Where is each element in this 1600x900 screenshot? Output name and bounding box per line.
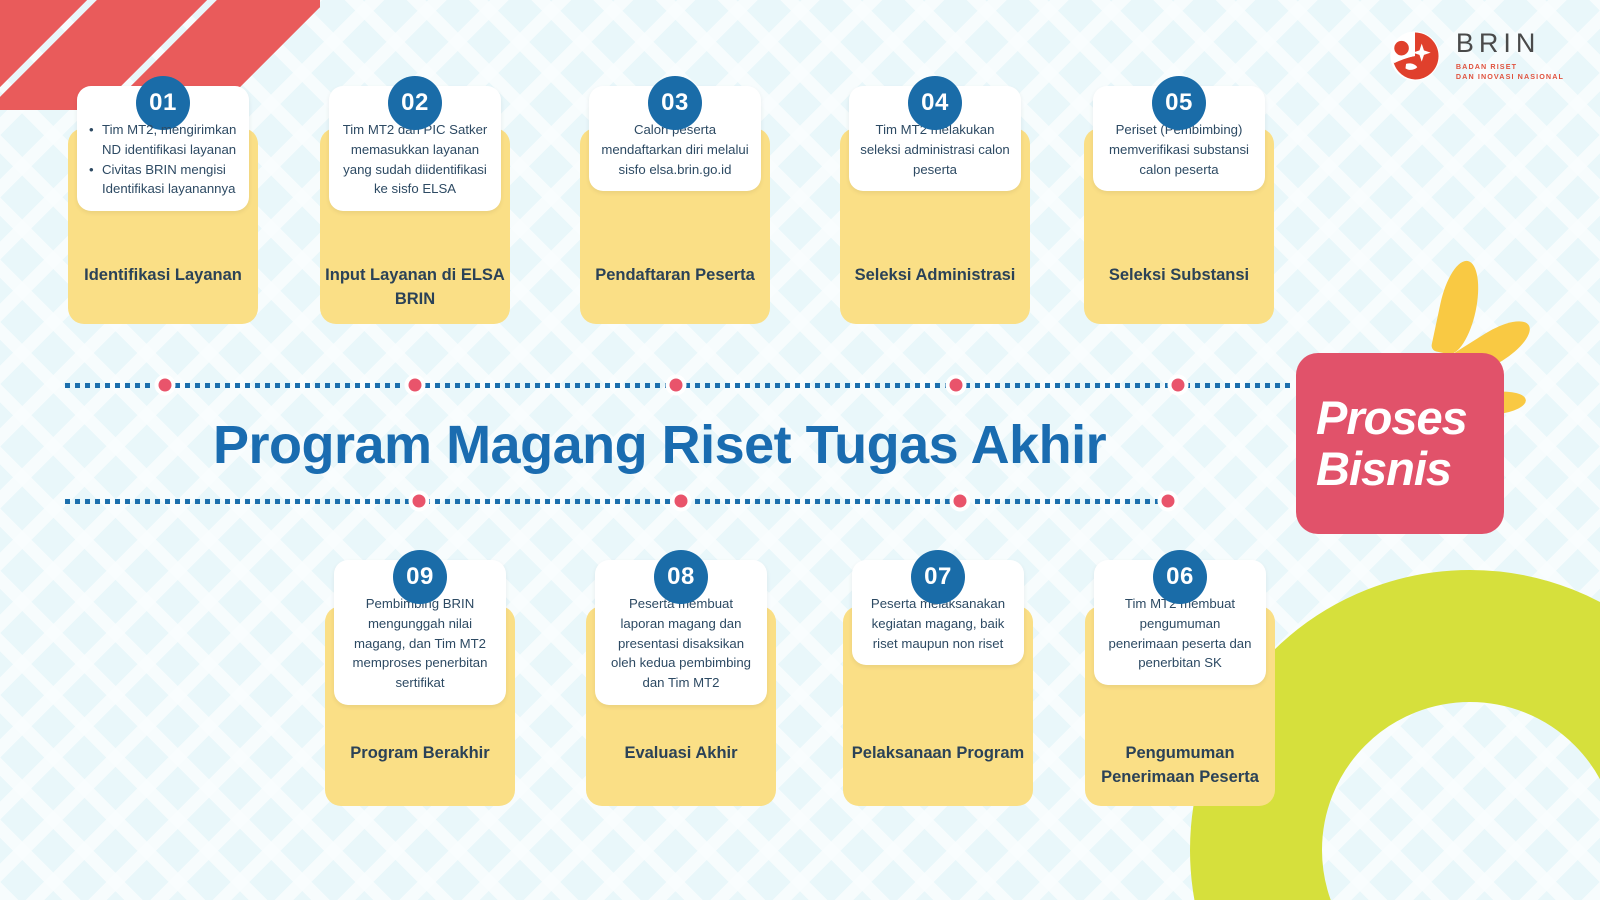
brin-tagline-line2: DAN INOVASI NASIONAL <box>1456 72 1564 82</box>
brin-tagline: BADAN RISET DAN INOVASI NASIONAL <box>1456 62 1564 81</box>
card-content: 01 Tim MT2, mengirimkan ND identifikasi … <box>77 86 249 211</box>
card-title: Identifikasi Layanan <box>68 264 258 288</box>
card-title: Pelaksanaan Program <box>843 742 1033 766</box>
timeline-node <box>1158 491 1179 512</box>
card-body: Tim MT2, mengirimkan ND identifikasi lay… <box>88 120 238 199</box>
card-content: 04 Tim MT2 melakukan seleksi administras… <box>849 86 1021 191</box>
brin-tagline-line1: BADAN RISET <box>1456 62 1564 72</box>
badge-line-1: Proses <box>1316 393 1504 444</box>
step-number-badge: 09 <box>393 550 447 604</box>
card-title: Pendaftaran Peserta <box>580 264 770 288</box>
step-number-badge: 05 <box>1152 76 1206 130</box>
card-content: 02 Tim MT2 dan PIC Satker memasukkan lay… <box>329 86 501 211</box>
card-content: 07 Peserta melaksanakan kegiatan magang,… <box>852 560 1024 665</box>
card-title: Seleksi Administrasi <box>840 264 1030 288</box>
card-body: Tim MT2 dan PIC Satker memasukkan layana… <box>340 120 490 199</box>
step-number-badge: 06 <box>1153 550 1207 604</box>
list-item: Civitas BRIN mengisi Identifikasi layana… <box>102 160 238 200</box>
timeline-node <box>950 491 971 512</box>
card-title: Input Layanan di ELSA BRIN <box>320 264 510 312</box>
step-number-badge: 03 <box>648 76 702 130</box>
timeline-node <box>946 375 967 396</box>
card-content: 06 Tim MT2 membuat pengumuman penerimaan… <box>1094 560 1266 685</box>
card-title: Seleksi Substansi <box>1084 264 1274 288</box>
card-body: Pembimbing BRIN mengunggah nilai magang,… <box>345 594 495 693</box>
brin-logo: BRIN BADAN RISET DAN INOVASI NASIONAL <box>1387 28 1564 84</box>
timeline-node <box>405 375 426 396</box>
brin-name: BRIN <box>1456 30 1564 57</box>
card-body: Tim MT2 membuat pengumuman penerimaan pe… <box>1105 594 1255 673</box>
card-content: 09 Pembimbing BRIN mengunggah nilai maga… <box>334 560 506 705</box>
card-title: Program Berakhir <box>325 742 515 766</box>
timeline-node <box>1168 375 1189 396</box>
card-body: Peserta membuat laporan magang dan prese… <box>606 594 756 693</box>
page-title: Program Magang Riset Tugas Akhir <box>213 414 1106 476</box>
card-content: 03 Calon peserta mendaftarkan diri melal… <box>589 86 761 191</box>
card-content: 08 Peserta membuat laporan magang dan pr… <box>595 560 767 705</box>
step-number-badge: 02 <box>388 76 442 130</box>
list-item: Tim MT2, mengirimkan ND identifikasi lay… <box>102 120 238 160</box>
step-number-badge: 07 <box>911 550 965 604</box>
badge-line-2: Bisnis <box>1316 444 1504 495</box>
step-number-badge: 04 <box>908 76 962 130</box>
card-title: Evaluasi Akhir <box>586 742 776 766</box>
timeline-node <box>666 375 687 396</box>
card-title: Pengumuman Penerimaan Peserta <box>1085 742 1275 790</box>
timeline-node <box>155 375 176 396</box>
step-number-badge: 08 <box>654 550 708 604</box>
timeline-node <box>671 491 692 512</box>
brin-wordmark: BRIN BADAN RISET DAN INOVASI NASIONAL <box>1456 30 1564 81</box>
card-content: 05 Periset (Pembimbing) memverifikasi su… <box>1093 86 1265 191</box>
connector-line-bottom <box>65 499 1161 504</box>
timeline-node <box>409 491 430 512</box>
proses-bisnis-badge: Proses Bisnis <box>1296 353 1504 534</box>
brin-logo-mark <box>1387 28 1443 84</box>
infographic-canvas: BRIN BADAN RISET DAN INOVASI NASIONAL 01… <box>0 0 1600 900</box>
